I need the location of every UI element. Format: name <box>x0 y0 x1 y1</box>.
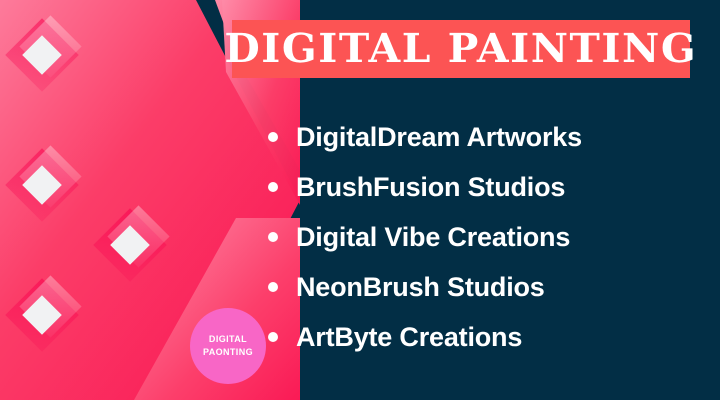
brand-name-list: DigitalDream Artworks BrushFusion Studio… <box>268 112 698 362</box>
status-badge[interactable]: DIGITAL PAONTING <box>190 308 266 384</box>
page-title: DIGITAL PAINTING <box>225 29 698 69</box>
badge-label-line1: DIGITAL <box>209 333 247 346</box>
bullet-dot-icon <box>268 182 278 192</box>
list-item-label: BrushFusion Studios <box>296 172 565 203</box>
badge-label-line2: PAONTING <box>203 346 253 359</box>
list-item-label: DigitalDream Artworks <box>296 122 582 153</box>
title-banner: DIGITAL PAINTING <box>232 20 690 78</box>
bullet-dot-icon <box>268 282 278 292</box>
slide-canvas: DIGITAL PAINTING DigitalDream Artworks B… <box>0 0 720 400</box>
list-item[interactable]: Digital Vibe Creations <box>268 212 698 262</box>
list-item[interactable]: ArtByte Creations <box>268 312 698 362</box>
bullet-dot-icon <box>268 332 278 342</box>
bullet-dot-icon <box>268 132 278 142</box>
list-item[interactable]: DigitalDream Artworks <box>268 112 698 162</box>
list-item-label: Digital Vibe Creations <box>296 222 570 253</box>
list-item[interactable]: NeonBrush Studios <box>268 262 698 312</box>
list-item[interactable]: BrushFusion Studios <box>268 162 698 212</box>
bullet-dot-icon <box>268 232 278 242</box>
list-item-label: ArtByte Creations <box>296 322 522 353</box>
list-item-label: NeonBrush Studios <box>296 272 545 303</box>
